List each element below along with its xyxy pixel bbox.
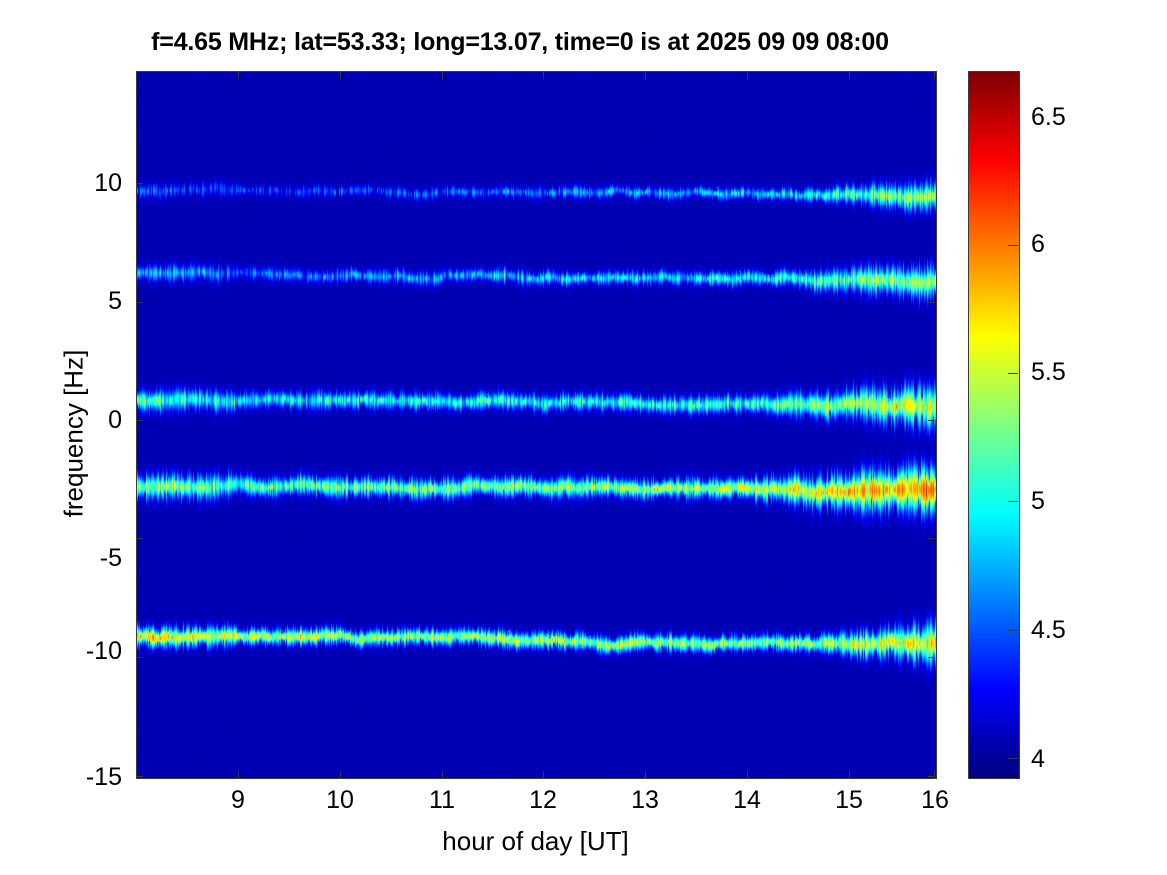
colorbar-tick-mark-6 bbox=[1008, 245, 1018, 246]
y-tick-mark-0 bbox=[136, 420, 143, 421]
colorbar-tick-label-6_5: 6.5 bbox=[1031, 105, 1121, 130]
x-tick-mark-top-11 bbox=[442, 72, 443, 79]
y-tick-label-neg15: -15 bbox=[12, 765, 122, 790]
y-tick-label-5: 5 bbox=[12, 289, 122, 314]
colorbar-gradient bbox=[969, 72, 1019, 778]
x-tick-mark-12 bbox=[543, 771, 544, 778]
y-tick-mark-neg5 bbox=[136, 538, 143, 539]
x-tick-mark-top-16 bbox=[934, 72, 935, 79]
colorbar-tick-label-4_5: 4.5 bbox=[1031, 618, 1121, 643]
x-tick-label-13: 13 bbox=[605, 788, 685, 813]
x-tick-label-15: 15 bbox=[809, 788, 889, 813]
x-tick-mark-top-13 bbox=[645, 72, 646, 79]
colorbar-tick-label-5: 5 bbox=[1031, 489, 1121, 514]
y-tick-label-10: 10 bbox=[12, 171, 122, 196]
x-tick-label-10: 10 bbox=[300, 788, 380, 813]
y-tick-label-neg10: -10 bbox=[12, 639, 122, 664]
colorbar-tick-mark-5_5 bbox=[1008, 373, 1018, 374]
colorbar-tick-mark-6_5 bbox=[1008, 117, 1018, 118]
y-tick-mark-right-neg5 bbox=[928, 538, 935, 539]
x-tick-mark-top-12 bbox=[543, 72, 544, 79]
x-tick-mark-top-10 bbox=[340, 72, 341, 79]
colorbar-tick-mark-4_5 bbox=[1008, 630, 1018, 631]
y-tick-mark-5 bbox=[136, 302, 143, 303]
colorbar-tick-mark-5 bbox=[1008, 501, 1018, 502]
y-tick-label-neg5: -5 bbox=[12, 546, 122, 571]
y-tick-mark-right-10 bbox=[928, 183, 935, 184]
spectrogram-image bbox=[137, 72, 936, 778]
y-tick-mark-neg15 bbox=[136, 776, 143, 777]
y-tick-label-0: 0 bbox=[12, 408, 122, 433]
x-axis-title: hour of day [UT] bbox=[136, 826, 935, 857]
y-tick-mark-right-5 bbox=[928, 302, 935, 303]
x-tick-mark-14 bbox=[747, 771, 748, 778]
x-tick-mark-top-14 bbox=[747, 72, 748, 79]
colorbar-tick-label-6: 6 bbox=[1031, 232, 1121, 257]
y-tick-mark-right-neg10 bbox=[928, 657, 935, 658]
x-tick-mark-13 bbox=[645, 771, 646, 778]
x-tick-mark-15 bbox=[849, 771, 850, 778]
y-tick-mark-10 bbox=[136, 183, 143, 184]
x-tick-label-11: 11 bbox=[402, 788, 482, 813]
x-tick-label-16: 16 bbox=[895, 788, 975, 813]
x-tick-label-14: 14 bbox=[707, 788, 787, 813]
x-tick-mark-16 bbox=[934, 771, 935, 778]
figure-canvas: f=4.65 MHz; lat=53.33; long=13.07, time=… bbox=[0, 0, 1167, 875]
x-tick-label-9: 9 bbox=[198, 788, 278, 813]
x-tick-mark-10 bbox=[340, 771, 341, 778]
spectrogram-plot-area[interactable] bbox=[136, 71, 937, 779]
colorbar-tick-mark-4 bbox=[1008, 758, 1018, 759]
x-tick-mark-11 bbox=[442, 771, 443, 778]
x-tick-mark-top-15 bbox=[849, 72, 850, 79]
y-tick-mark-right-0 bbox=[928, 420, 935, 421]
x-tick-mark-top-9 bbox=[238, 72, 239, 79]
x-tick-label-12: 12 bbox=[503, 788, 583, 813]
y-tick-mark-neg10 bbox=[136, 657, 143, 658]
colorbar[interactable] bbox=[968, 71, 1020, 779]
chart-title: f=4.65 MHz; lat=53.33; long=13.07, time=… bbox=[0, 28, 1040, 57]
colorbar-tick-label-5_5: 5.5 bbox=[1031, 360, 1121, 385]
x-tick-mark-9 bbox=[238, 771, 239, 778]
colorbar-tick-label-4: 4 bbox=[1031, 747, 1121, 772]
